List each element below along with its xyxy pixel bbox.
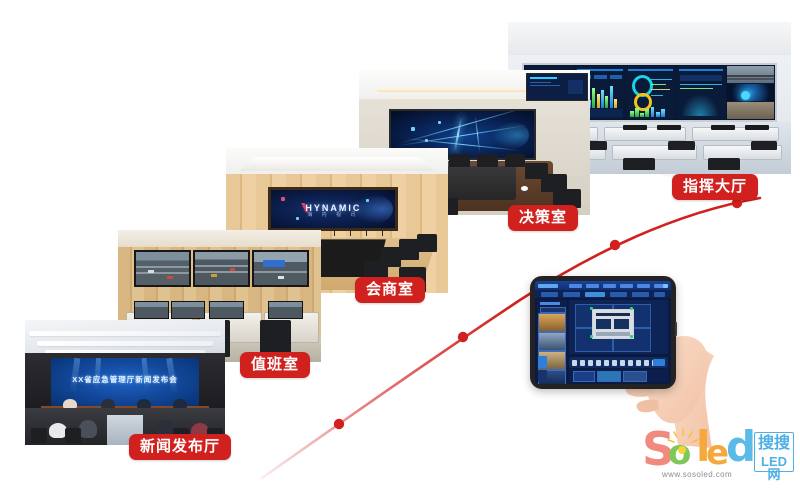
logo-url: www.sosoled.com xyxy=(662,470,732,479)
menu-item[interactable] xyxy=(569,284,582,288)
wall-monitor-2 xyxy=(193,250,250,287)
tool-button[interactable] xyxy=(580,360,585,366)
poster-canvas: 指挥大厅 xyxy=(0,0,800,488)
wall-monitor-1 xyxy=(134,250,191,287)
logo-letter-d: d xyxy=(726,426,756,468)
menu-item[interactable] xyxy=(637,284,650,288)
label-news-hall[interactable]: 新闻发布厅 xyxy=(129,434,231,460)
apply-button[interactable] xyxy=(653,359,665,366)
close-icon[interactable] xyxy=(663,284,668,288)
tool-palette[interactable] xyxy=(569,357,668,368)
tool-button[interactable] xyxy=(604,360,609,366)
wall-monitor-3 xyxy=(252,250,309,287)
audience-member xyxy=(79,420,97,438)
power-button[interactable] xyxy=(675,322,677,336)
led-screen: HYNAMIC 海 内 视 讯 xyxy=(268,187,398,231)
soled-logo: S o l e d www.sosoled.com 搜搜 LED网 xyxy=(640,424,796,482)
app-title xyxy=(538,284,558,288)
menu-item[interactable] xyxy=(586,284,599,288)
scene-tab[interactable] xyxy=(632,292,649,297)
preset-card[interactable] xyxy=(573,371,595,382)
selected-window[interactable] xyxy=(592,309,634,339)
scene-tab[interactable] xyxy=(654,292,665,297)
vw-pane-radar xyxy=(676,66,725,119)
ceiling xyxy=(118,230,321,247)
photo-news-hall: XX省应急管理厅新闻发布会 xyxy=(25,320,225,445)
scene-tab[interactable] xyxy=(610,292,627,297)
layer-button[interactable] xyxy=(538,356,547,368)
logo-dot xyxy=(678,446,686,454)
screen-headline: XX省应急管理厅新闻发布会 xyxy=(51,374,199,385)
tool-button[interactable] xyxy=(644,360,649,366)
vw-pane-donut xyxy=(626,66,675,119)
tool-button[interactable] xyxy=(628,360,633,366)
source-thumbnail[interactable] xyxy=(538,332,566,351)
preset-strip xyxy=(569,369,668,382)
tool-button[interactable] xyxy=(588,360,593,366)
tool-button[interactable] xyxy=(596,360,601,366)
menu-item[interactable] xyxy=(603,284,616,288)
desk-monitor-2 xyxy=(171,301,205,319)
label-duty-room[interactable]: 值班室 xyxy=(240,352,310,378)
desk-monitor-3 xyxy=(209,301,243,319)
teacup xyxy=(521,186,528,191)
scene-tab[interactable] xyxy=(541,292,558,297)
logo-cn-line2: LED网 xyxy=(755,455,793,481)
source-panel-title xyxy=(540,302,560,305)
side-monitor xyxy=(526,73,588,101)
tablet-device xyxy=(530,276,676,389)
label-command-hall[interactable]: 指挥大厅 xyxy=(672,174,758,200)
ceiling-beam xyxy=(37,341,213,346)
logo-cn-line1: 搜搜 xyxy=(755,436,793,452)
source-thumbnail[interactable] xyxy=(538,313,566,332)
ceiling-beam xyxy=(29,331,221,336)
tool-button[interactable] xyxy=(612,360,617,366)
tablet-with-hand xyxy=(528,270,718,430)
desk-monitor-1 xyxy=(134,301,168,319)
preset-card[interactable] xyxy=(623,371,647,382)
scene-tab-selected[interactable] xyxy=(585,292,605,297)
scene-tab[interactable] xyxy=(563,292,580,297)
logo-cn-badge: 搜搜 LED网 xyxy=(754,432,794,472)
label-decision-room[interactable]: 决策室 xyxy=(508,205,578,231)
tool-button[interactable] xyxy=(620,360,625,366)
menu-item[interactable] xyxy=(620,284,633,288)
layout-canvas[interactable] xyxy=(569,300,668,354)
screen-brand-subtext: 海 内 视 讯 xyxy=(271,211,395,218)
preset-card[interactable] xyxy=(597,371,621,382)
label-consultation-room[interactable]: 会商室 xyxy=(355,277,425,303)
vw-pane-camera xyxy=(727,66,774,119)
tablet-screen xyxy=(535,281,671,384)
settings-button[interactable] xyxy=(538,370,547,382)
tool-button[interactable] xyxy=(636,360,641,366)
ceiling-panel xyxy=(239,157,434,172)
tool-button[interactable] xyxy=(572,360,577,366)
desk-monitor-4 xyxy=(268,301,302,319)
